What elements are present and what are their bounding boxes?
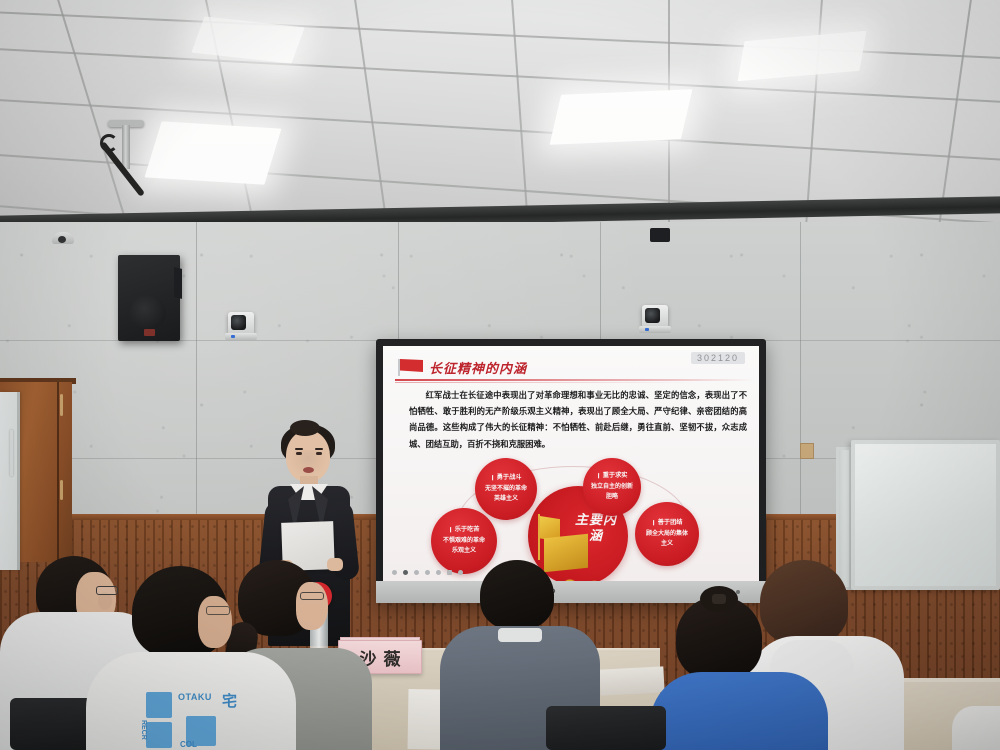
door-handle[interactable] — [60, 480, 63, 500]
toolbar-icon-stop[interactable] — [447, 570, 452, 575]
whiteboard-right — [851, 440, 1000, 590]
bubble-line: 不惧艰难的革命 — [443, 536, 485, 547]
tshirt-graphic-print: OTAKU 宅 COL RECR — [140, 690, 248, 750]
bubble-heading: 重于求实 — [597, 471, 628, 482]
tshirt-text-cjk: 宅 — [222, 690, 237, 711]
toolbar-icon-next[interactable] — [436, 570, 441, 575]
eyeglasses-icon — [206, 606, 230, 615]
bubble-heading: 乐于吃苦 — [449, 525, 480, 536]
slide-page-code: 302120 — [691, 352, 745, 364]
led-panel-light — [145, 121, 282, 184]
hair-bun — [290, 420, 320, 436]
toolbar-icon-eraser[interactable] — [425, 570, 430, 575]
ceiling — [0, 0, 1000, 232]
bubble-line: 英雄主义 — [494, 494, 518, 505]
diagram-center-label: 主要内涵 — [574, 512, 618, 545]
bubble-line: 顾全大局的集体 — [646, 529, 688, 540]
audience-body — [650, 672, 828, 750]
eyeglasses-icon — [96, 586, 118, 595]
audience-body — [952, 706, 1000, 750]
audience-face — [296, 582, 328, 630]
led-panel-light — [550, 89, 693, 145]
diagram-bubble: 勇于战斗 无坚不摧的革命 英雄主义 — [475, 458, 537, 520]
sensor-lens-icon — [58, 236, 66, 243]
title-divider-secondary — [395, 382, 695, 383]
ptz-camera — [228, 312, 254, 334]
audience-head — [480, 560, 554, 630]
bubble-line: 独立自主的创新 — [591, 482, 633, 493]
bubble-line: 主义 — [661, 539, 673, 550]
wall-speaker — [118, 255, 180, 341]
slide-body-text: 红军战士在长征途中表现出了对革命理想和事业无比的忠诚、坚定的信念，表现出了不怕牺… — [409, 388, 747, 453]
presentation-slide: 302120 长征精神的内涵 红军战士在长征途中表现出了对革命理想和事业无比的忠… — [383, 346, 759, 581]
slide-title-row: 长征精神的内涵 — [397, 358, 527, 377]
whiteboard-left — [0, 392, 20, 570]
eyeglasses-icon — [300, 592, 324, 600]
audience-face — [198, 596, 232, 648]
led-panel-light — [738, 31, 867, 81]
tshirt-text-recr: RECR — [140, 720, 147, 740]
diagram-bubble: 善于团结 顾全大局的集体 主义 — [635, 502, 699, 566]
marker-icon — [10, 430, 13, 476]
diagram-bubble: 重于求实 独立自主的创新 胆略 — [583, 458, 641, 516]
shirt-collar — [498, 628, 542, 642]
classroom-photo-scene: 302120 长征精神的内涵 红军战士在长征途中表现出了对革命理想和事业无比的忠… — [0, 0, 1000, 750]
tshirt-text-otaku: OTAKU — [178, 692, 212, 702]
whiteboard-panel-edge — [836, 447, 852, 590]
bubble-heading: 勇于战斗 — [491, 473, 522, 484]
wall-outlet — [800, 443, 814, 459]
slide-title: 长征精神的内涵 — [429, 358, 527, 377]
ptz-camera — [642, 305, 668, 327]
toolbar-icon-back[interactable] — [392, 570, 397, 575]
speaker-bracket — [174, 267, 182, 299]
slide-toolbar[interactable] — [392, 570, 463, 575]
chair-back — [546, 706, 666, 750]
audience-head — [760, 560, 848, 644]
door-handle[interactable] — [60, 394, 63, 416]
bubble-heading: 善于团结 — [652, 518, 683, 529]
title-divider — [395, 379, 755, 381]
interactive-flat-panel-display[interactable]: 302120 长征精神的内涵 红军战士在长征途中表现出了对革命理想和事业无比的忠… — [376, 339, 766, 603]
toolbar-icon-pen[interactable] — [414, 570, 419, 575]
bubble-line: 乐观主义 — [452, 546, 476, 557]
bubble-line: 胆略 — [606, 492, 618, 503]
bubble-line: 无坚不摧的革命 — [485, 484, 527, 495]
red-flag-icon — [397, 359, 423, 376]
display-screen[interactable]: 302120 长征精神的内涵 红军战士在长征途中表现出了对革命理想和事业无比的忠… — [383, 346, 759, 581]
open-notebook — [599, 666, 664, 695]
wall-mounted-box — [650, 228, 670, 242]
diagram-bubble: 乐于吃苦 不惧艰难的革命 乐观主义 — [431, 508, 497, 574]
tshirt-text-col: COL — [180, 740, 197, 749]
connotation-diagram: 主要内涵 勇于战斗 无坚不摧的革命 英雄主义 重于求实 独立自主的创新 胆略 乐… — [383, 458, 759, 581]
toolbar-icon-more[interactable] — [458, 570, 463, 575]
hair-clip — [712, 594, 726, 604]
toolbar-icon-pen-active[interactable] — [403, 570, 408, 575]
